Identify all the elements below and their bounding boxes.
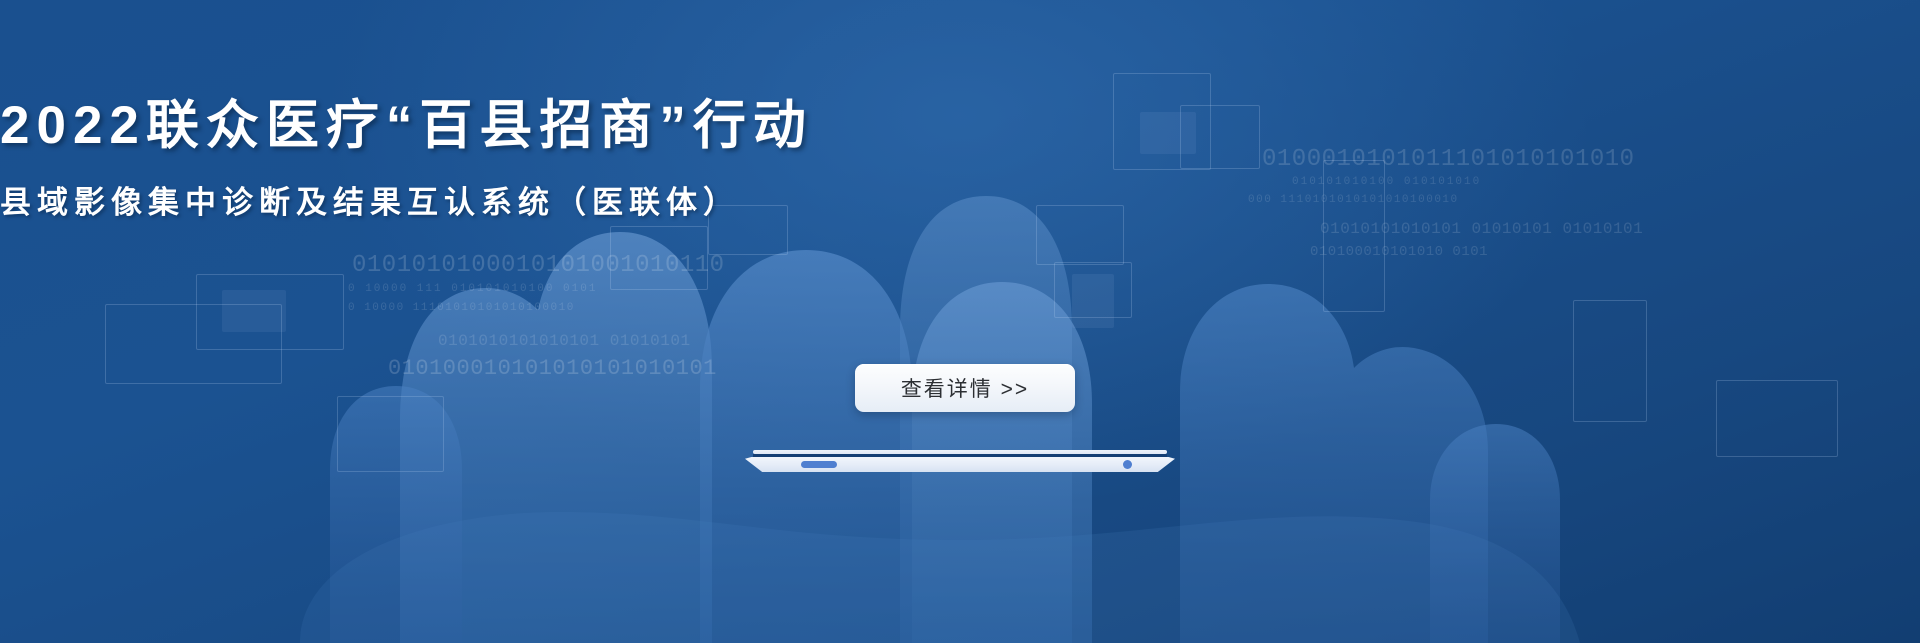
decor-rect-bottom-right — [1716, 380, 1838, 457]
view-details-button[interactable]: 查看详情 >> — [855, 364, 1075, 412]
promo-banner: 0101010100010101001010110 0 10000 111 01… — [0, 0, 1920, 643]
binary-decor-left-4: 0101010101010101 01010101 — [438, 332, 691, 350]
binary-decor-right-5: 010100010101010 0101 — [1310, 244, 1488, 260]
binary-decor-left-3: 0 10000 11101010101010100010 — [348, 302, 575, 314]
decor-rect-corner-right — [1573, 300, 1647, 422]
laptop-indicator-dot — [1123, 460, 1132, 469]
binary-decor-left-1: 0101010100010101001010110 — [352, 252, 725, 279]
laptop-indicator-bar — [801, 461, 837, 468]
binary-decor-left-2: 0 10000 111 010101010100 0101 — [348, 283, 597, 295]
decor-rect-bottom-left — [337, 396, 444, 472]
decor-square-left-fill — [222, 290, 286, 332]
laptop-device-illustration — [745, 450, 1175, 482]
binary-decor-left-5: 010100010101010101010101 — [388, 356, 717, 381]
banner-sub-title: 县域影像集中诊断及结果互认系统（医联体） — [0, 181, 1920, 225]
decor-square-right-fill — [1072, 274, 1114, 328]
laptop-hinge-gap — [753, 454, 1167, 457]
banner-main-title: 2022联众医疗“百县招商”行动 — [0, 92, 1920, 160]
